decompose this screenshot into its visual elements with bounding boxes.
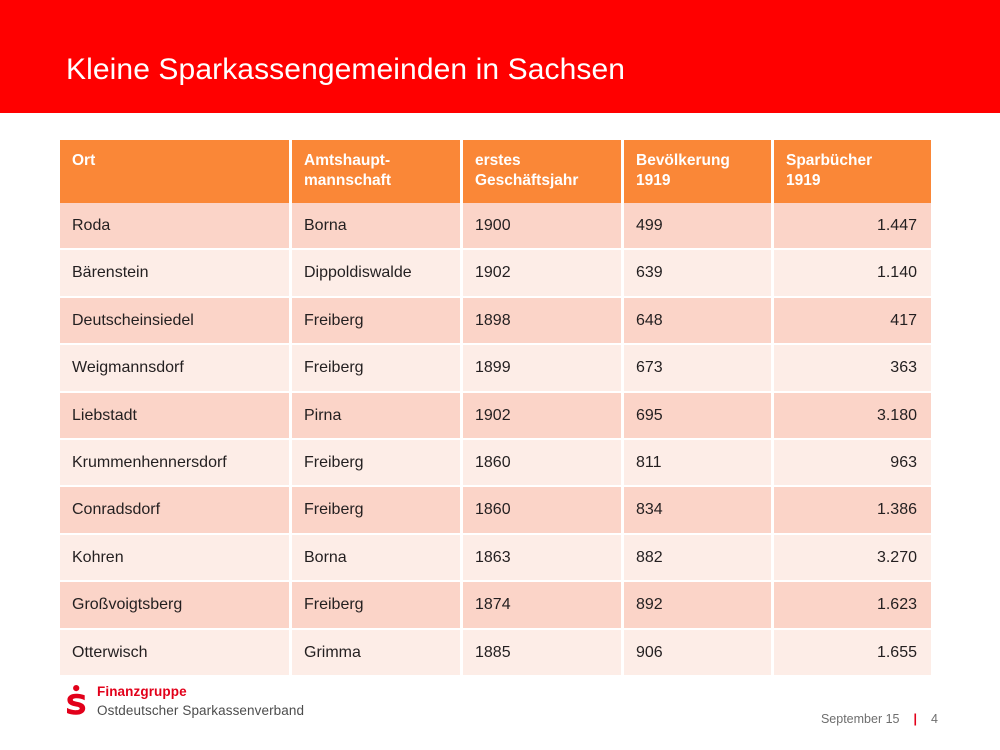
cell-bevoelkerung-1919: 834	[624, 487, 774, 534]
cell-bevoelkerung-1919: 673	[624, 345, 774, 392]
column-header-erstes-geschaeftsjahr-line1: erstes	[475, 152, 521, 169]
table-row: KohrenBorna18638823.270	[60, 535, 931, 582]
table-body: RodaBorna19004991.447BärensteinDippoldis…	[60, 203, 931, 675]
cell-sparbuecher-1919: 963	[774, 440, 931, 487]
column-header-amtshauptmannschaft-line1: Amtshaupt-	[304, 152, 390, 169]
table-row: WeigmannsdorfFreiberg1899673363	[60, 345, 931, 392]
cell-amtshauptmannschaft: Freiberg	[292, 440, 463, 487]
column-header-sparbuecher-line2: 1919	[786, 171, 931, 191]
small-savings-bank-municipalities-table: Ort Amtshaupt- mannschaft erstes Geschäf…	[60, 140, 931, 675]
title-banner: Kleine Sparkassengemeinden in Sachsen	[0, 0, 1000, 113]
cell-ort: Otterwisch	[60, 630, 292, 675]
cell-ort: Liebstadt	[60, 393, 292, 440]
cell-sparbuecher-1919: 1.655	[774, 630, 931, 675]
cell-erstes-geschaeftsjahr: 1860	[463, 440, 624, 487]
footer-brand-verband: Ostdeutscher Sparkassenverband	[97, 702, 304, 719]
cell-amtshauptmannschaft: Freiberg	[292, 487, 463, 534]
cell-amtshauptmannschaft: Freiberg	[292, 345, 463, 392]
column-header-ort: Ort	[60, 140, 292, 203]
footer-brand-finanzgruppe: Finanzgruppe	[97, 684, 304, 700]
cell-ort: Krummenhennersdorf	[60, 440, 292, 487]
cell-amtshauptmannschaft: Borna	[292, 203, 463, 250]
cell-ort: Roda	[60, 203, 292, 250]
column-header-bevoelkerung-line1: Bevölkerung	[636, 152, 730, 169]
cell-erstes-geschaeftsjahr: 1898	[463, 298, 624, 345]
cell-erstes-geschaeftsjahr: 1885	[463, 630, 624, 675]
table-row: BärensteinDippoldiswalde19026391.140	[60, 250, 931, 297]
cell-amtshauptmannschaft: Pirna	[292, 393, 463, 440]
cell-sparbuecher-1919: 1.140	[774, 250, 931, 297]
cell-ort: Bärenstein	[60, 250, 292, 297]
footer-meta: September 15 | 4	[821, 712, 938, 726]
cell-amtshauptmannschaft: Freiberg	[292, 582, 463, 629]
cell-ort: Kohren	[60, 535, 292, 582]
table-row: RodaBorna19004991.447	[60, 203, 931, 250]
table-header: Ort Amtshaupt- mannschaft erstes Geschäf…	[60, 140, 931, 203]
cell-bevoelkerung-1919: 906	[624, 630, 774, 675]
cell-ort: Weigmannsdorf	[60, 345, 292, 392]
table-header-row: Ort Amtshaupt- mannschaft erstes Geschäf…	[60, 140, 931, 203]
column-header-sparbuecher-line1: Sparbücher	[786, 152, 872, 169]
sparkassen-finanzgruppe-logo: Finanzgruppe Ostdeutscher Sparkassenverb…	[64, 684, 304, 719]
cell-bevoelkerung-1919: 648	[624, 298, 774, 345]
table-row: OtterwischGrimma18859061.655	[60, 630, 931, 675]
cell-bevoelkerung-1919: 892	[624, 582, 774, 629]
cell-bevoelkerung-1919: 811	[624, 440, 774, 487]
footer-date: September 15	[821, 712, 900, 726]
sparkassen-s-icon	[64, 685, 88, 717]
footer-separator: |	[914, 712, 918, 726]
cell-sparbuecher-1919: 363	[774, 345, 931, 392]
cell-sparbuecher-1919: 1.386	[774, 487, 931, 534]
footer-brand-text: Finanzgruppe Ostdeutscher Sparkassenverb…	[97, 684, 304, 719]
column-header-bevoelkerung-1919: Bevölkerung 1919	[624, 140, 774, 203]
cell-erstes-geschaeftsjahr: 1902	[463, 250, 624, 297]
cell-ort: Conradsdorf	[60, 487, 292, 534]
column-header-amtshauptmannschaft-line2: mannschaft	[304, 171, 460, 191]
cell-amtshauptmannschaft: Borna	[292, 535, 463, 582]
table-row: DeutscheinsiedelFreiberg1898648417	[60, 298, 931, 345]
cell-ort: Großvoigtsberg	[60, 582, 292, 629]
cell-erstes-geschaeftsjahr: 1899	[463, 345, 624, 392]
cell-sparbuecher-1919: 3.180	[774, 393, 931, 440]
column-header-erstes-geschaeftsjahr-line2: Geschäftsjahr	[475, 171, 621, 191]
cell-erstes-geschaeftsjahr: 1902	[463, 393, 624, 440]
cell-amtshauptmannschaft: Freiberg	[292, 298, 463, 345]
cell-erstes-geschaeftsjahr: 1900	[463, 203, 624, 250]
cell-erstes-geschaeftsjahr: 1860	[463, 487, 624, 534]
column-header-sparbuecher-1919: Sparbücher 1919	[774, 140, 931, 203]
cell-bevoelkerung-1919: 695	[624, 393, 774, 440]
cell-bevoelkerung-1919: 499	[624, 203, 774, 250]
column-header-ort-line1: Ort	[72, 152, 95, 169]
page-title: Kleine Sparkassengemeinden in Sachsen	[66, 52, 625, 88]
cell-amtshauptmannschaft: Grimma	[292, 630, 463, 675]
page-number: 4	[928, 712, 938, 726]
cell-sparbuecher-1919: 417	[774, 298, 931, 345]
cell-bevoelkerung-1919: 639	[624, 250, 774, 297]
column-header-amtshauptmannschaft: Amtshaupt- mannschaft	[292, 140, 463, 203]
column-header-erstes-geschaeftsjahr: erstes Geschäftsjahr	[463, 140, 624, 203]
cell-amtshauptmannschaft: Dippoldiswalde	[292, 250, 463, 297]
table-row: LiebstadtPirna19026953.180	[60, 393, 931, 440]
cell-erstes-geschaeftsjahr: 1863	[463, 535, 624, 582]
cell-sparbuecher-1919: 1.623	[774, 582, 931, 629]
column-header-bevoelkerung-line2: 1919	[636, 171, 771, 191]
cell-sparbuecher-1919: 3.270	[774, 535, 931, 582]
table-row: ConradsdorfFreiberg18608341.386	[60, 487, 931, 534]
cell-erstes-geschaeftsjahr: 1874	[463, 582, 624, 629]
cell-ort: Deutscheinsiedel	[60, 298, 292, 345]
table-row: GroßvoigtsbergFreiberg18748921.623	[60, 582, 931, 629]
cell-bevoelkerung-1919: 882	[624, 535, 774, 582]
cell-sparbuecher-1919: 1.447	[774, 203, 931, 250]
table-row: KrummenhennersdorfFreiberg1860811963	[60, 440, 931, 487]
